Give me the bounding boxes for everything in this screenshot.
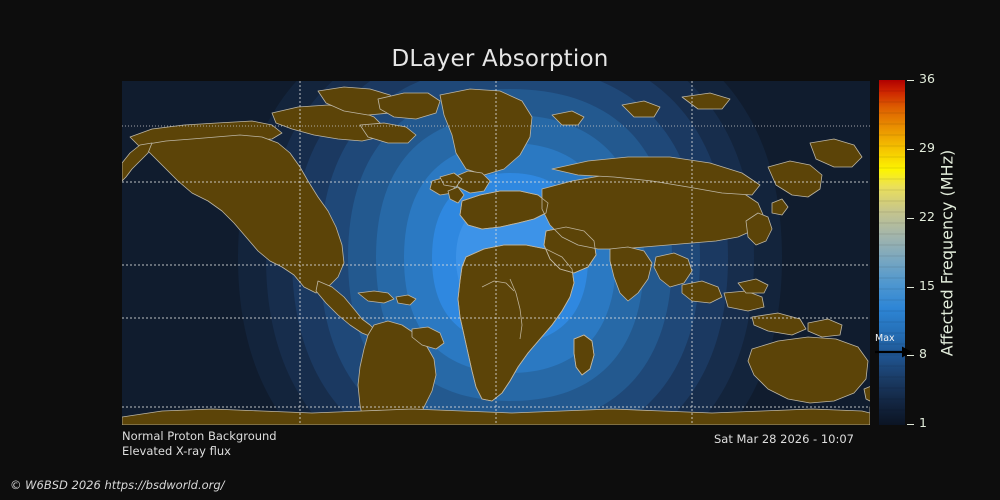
page-title: DLayer Absorption [0,46,1000,72]
colorbar-tick-dash [907,424,914,425]
note-proton-background: Normal Proton Background [122,429,277,444]
map-canvas [122,81,870,425]
colorbar-tick-dash [907,80,914,81]
absorption-map[interactable] [122,81,870,425]
note-xray-flux: Elevated X-ray flux [122,444,277,459]
copyright-label: © W6BSD 2026 https://bsdworld.org/ [10,478,225,492]
colorbar-gradient [879,80,905,425]
colorbar-axis-label-text: Affected Frequency (MHz) [938,149,957,355]
colorbar-tick-dash [907,218,914,219]
colorbar-axis-label: Affected Frequency (MHz) [934,80,960,425]
colorbar-tick-dash [907,287,914,288]
colorbar[interactable] [879,80,905,425]
status-notes: Normal Proton Background Elevated X-ray … [122,429,277,459]
colorbar-tick-dash [907,355,914,356]
colorbar-tick-dash [907,149,914,150]
timestamp-label: Sat Mar 28 2026 - 10:07 [714,432,854,446]
